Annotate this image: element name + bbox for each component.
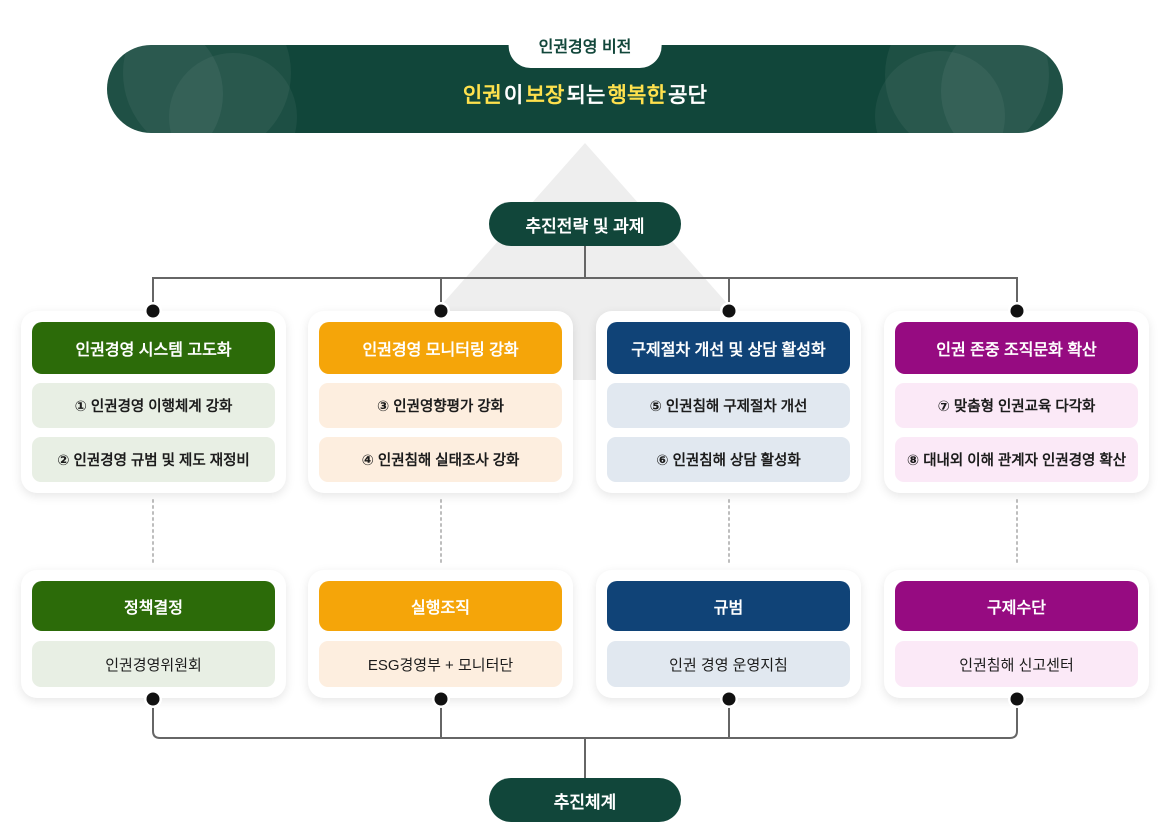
mechanism-card-body: ESG경영부 + 모니터단 (319, 641, 562, 687)
mechanism-card-body: 인권침해 신고센터 (895, 641, 1138, 687)
connector-dot (1011, 693, 1024, 706)
strategy-card-title: 인권경영 시스템 고도화 (32, 322, 275, 374)
mechanism-card-title: 실행조직 (319, 581, 562, 631)
strategy-card-3[interactable]: 구제절차 개선 및 상담 활성화 ⑤ 인권침해 구제절차 개선 ⑥ 인권침해 상… (596, 311, 861, 493)
connector-dot (435, 305, 448, 318)
mechanism-card-1[interactable]: 정책결정 인권경영위원회 (21, 570, 286, 698)
connector-dot (723, 693, 736, 706)
strategy-task[interactable]: ⑥ 인권침해 상담 활성화 (607, 437, 850, 482)
mechanism-card-3[interactable]: 규범 인권 경영 운영지침 (596, 570, 861, 698)
vision-label: 인권경영 비전 (509, 22, 662, 68)
strategy-task[interactable]: ⑦ 맞춤형 인권교육 다각화 (895, 383, 1138, 428)
connector-dot (435, 693, 448, 706)
connector-dot (147, 305, 160, 318)
mechanism-card-title: 정책결정 (32, 581, 275, 631)
mechanism-card-4[interactable]: 구제수단 인권침해 신고센터 (884, 570, 1149, 698)
strategy-card-1[interactable]: 인권경영 시스템 고도화 ① 인권경영 이행체계 강화 ② 인권경영 규범 및 … (21, 311, 286, 493)
strategy-node[interactable]: 추진전략 및 과제 (489, 202, 681, 246)
strategy-task[interactable]: ① 인권경영 이행체계 강화 (32, 383, 275, 428)
mechanism-card-title: 규범 (607, 581, 850, 631)
strategy-task[interactable]: ③ 인권영향평가 강화 (319, 383, 562, 428)
mechanism-card-title: 구제수단 (895, 581, 1138, 631)
connector-dot (723, 305, 736, 318)
connector-dot (1011, 305, 1024, 318)
strategy-task[interactable]: ⑧ 대내외 이해 관계자 인권경영 확산 (895, 437, 1138, 482)
connector-dot (147, 693, 160, 706)
strategy-card-2[interactable]: 인권경영 모니터링 강화 ③ 인권영향평가 강화 ④ 인권침해 실태조사 강화 (308, 311, 573, 493)
strategy-card-title: 인권 존중 조직문화 확산 (895, 322, 1138, 374)
human-rights-management-diagram: 인권이 보장 되는 행복한 공단 인권경영 비전 (0, 0, 1170, 824)
mechanism-card-2[interactable]: 실행조직 ESG경영부 + 모니터단 (308, 570, 573, 698)
system-node[interactable]: 추진체계 (489, 778, 681, 822)
mechanism-card-body: 인권경영위원회 (32, 641, 275, 687)
strategy-card-title: 인권경영 모니터링 강화 (319, 322, 562, 374)
strategy-card-title: 구제절차 개선 및 상담 활성화 (607, 322, 850, 374)
mechanism-card-body: 인권 경영 운영지침 (607, 641, 850, 687)
strategy-task[interactable]: ② 인권경영 규범 및 제도 재정비 (32, 437, 275, 482)
strategy-task[interactable]: ④ 인권침해 실태조사 강화 (319, 437, 562, 482)
strategy-task[interactable]: ⑤ 인권침해 구제절차 개선 (607, 383, 850, 428)
strategy-card-4[interactable]: 인권 존중 조직문화 확산 ⑦ 맞춤형 인권교육 다각화 ⑧ 대내외 이해 관계… (884, 311, 1149, 493)
